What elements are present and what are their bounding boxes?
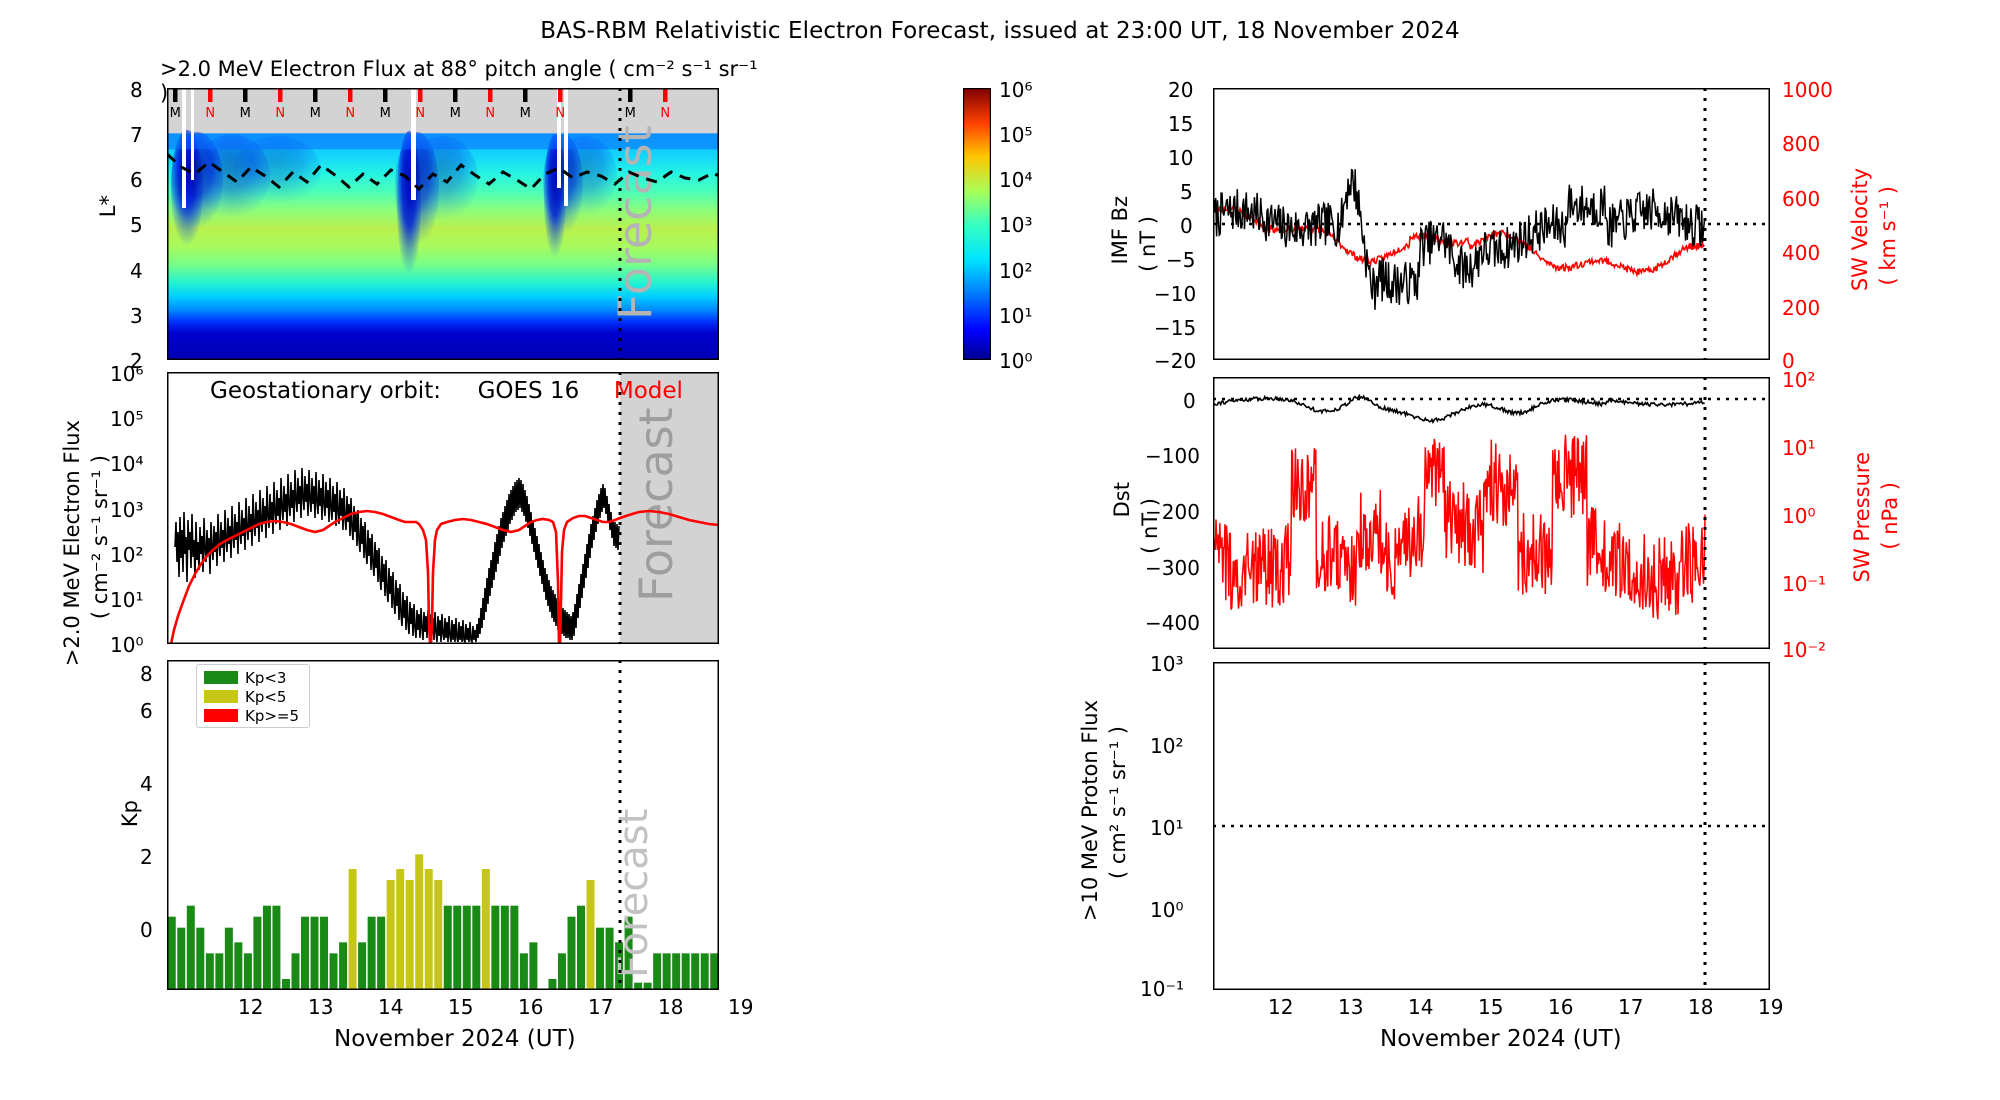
svg-text:N: N: [555, 106, 565, 121]
ytick-swv-200: 200: [1782, 296, 1820, 320]
kp-bar: [225, 928, 233, 990]
kp-bar: [244, 953, 252, 990]
kp-bar: [501, 906, 509, 990]
geo-flux-panel: Forecast: [167, 372, 719, 644]
xtick-right-19: 19: [1758, 995, 1783, 1019]
ytick-swp-1e2: 10²: [1782, 368, 1815, 392]
kp-bar: [272, 906, 280, 990]
kp-bar: [291, 953, 299, 990]
kp-legend-label-low: Kp<3: [245, 669, 286, 687]
xtick-right-14: 14: [1408, 995, 1433, 1019]
ytick-kp-4: 4: [140, 772, 153, 796]
xtick-left-16: 16: [518, 995, 543, 1019]
xtick-right-17: 17: [1618, 995, 1643, 1019]
kp-legend-label-high: Kp>=5: [245, 707, 299, 725]
kp-bar: [567, 917, 575, 990]
ytick-lstar-7: 7: [130, 123, 143, 147]
ytick-kp-0: 0: [140, 918, 153, 942]
ylabel-dst-line1: Dst: [1110, 482, 1134, 517]
flux-map-svg: Forecast M N M N M N M N M N: [167, 88, 719, 360]
dst-pressure-panel: [1213, 377, 1770, 649]
ytick-kp-6: 6: [140, 699, 153, 723]
ytick-dst-m400: −400: [1145, 611, 1200, 635]
kp-bar: [415, 854, 423, 990]
kp-bar: [510, 906, 518, 990]
kp-bar: [206, 953, 214, 990]
svg-text:M: M: [170, 106, 181, 121]
ytick-bz-m15: −15: [1154, 316, 1196, 340]
svg-text:M: M: [380, 106, 391, 121]
colorbar: [963, 88, 991, 360]
ytick-kp-2: 2: [140, 845, 153, 869]
cbar-tick-1e2: 10²: [999, 259, 1032, 283]
cbar-tick-1e3: 10³: [999, 213, 1032, 237]
forecast-watermark-map: Forecast: [608, 125, 662, 320]
kp-bar: [663, 953, 671, 990]
geo-flux-svg: Forecast: [167, 372, 719, 644]
kp-bar: [548, 979, 556, 990]
xtick-left-18: 18: [658, 995, 683, 1019]
geo-legend-prefix: Geostationary orbit:: [210, 378, 441, 404]
svg-text:N: N: [415, 106, 425, 121]
svg-text:M: M: [450, 106, 461, 121]
svg-text:N: N: [275, 106, 285, 121]
ytick-dst-0: 0: [1183, 389, 1196, 413]
cbar-tick-1e5: 10⁵: [999, 123, 1032, 147]
kp-bar: [339, 942, 347, 990]
kp-bar: [168, 917, 176, 990]
ylabel-proton-line1: >10 MeV Proton Flux: [1078, 700, 1102, 921]
xtick-right-16: 16: [1548, 995, 1573, 1019]
ylabel-bz-line1: IMF Bz: [1108, 196, 1132, 265]
ylabel-dst-line2: ( nT ): [1138, 498, 1162, 554]
xtick-left-19: 19: [728, 995, 753, 1019]
kp-legend: Kp<3 Kp<5 Kp>=5: [196, 664, 310, 728]
kp-bar: [406, 880, 414, 990]
ytick-bz-15: 15: [1168, 112, 1193, 136]
ytick-swp-1e1: 10¹: [1782, 436, 1815, 460]
xtick-left-12: 12: [238, 995, 263, 1019]
cbar-tick-1e6: 10⁶: [999, 78, 1032, 102]
ylabel-swv-line2: ( km s⁻¹ ): [1876, 186, 1900, 285]
kp-bar: [444, 906, 452, 990]
ylabel-kp: Kp: [118, 800, 142, 827]
svg-text:N: N: [660, 106, 670, 121]
ytick-proton-1e0: 10⁰: [1150, 898, 1183, 922]
kp-bar: [387, 880, 395, 990]
xtick-right-15: 15: [1478, 995, 1503, 1019]
kp-bar: [491, 906, 499, 990]
ytick-dst-m100: −100: [1145, 444, 1200, 468]
ytick-lstar-5: 5: [130, 213, 143, 237]
ytick-geo-1e0: 10⁰: [110, 633, 143, 657]
figure-canvas: BAS-RBM Relativistic Electron Forecast, …: [0, 0, 2000, 1100]
ylabel-bz-line2: ( nT ): [1136, 216, 1160, 272]
kp-bar: [587, 880, 595, 990]
kp-bar: [529, 942, 537, 990]
ytick-bz-m5: −5: [1166, 248, 1195, 272]
kp-legend-swatch-mid: [204, 690, 238, 703]
svg-text:N: N: [205, 106, 215, 121]
ylabel-geo-line2: ( cm⁻² s⁻¹ sr⁻¹ ): [88, 455, 112, 619]
svg-text:N: N: [345, 106, 355, 121]
ytick-geo-1e3: 10³: [110, 498, 143, 522]
kp-bar: [368, 917, 376, 990]
xtick-left-14: 14: [378, 995, 403, 1019]
kp-bar: [177, 928, 185, 990]
ytick-swv-600: 600: [1782, 187, 1820, 211]
kp-bar: [358, 942, 366, 990]
xlabel-right: November 2024 (UT): [1380, 1026, 1622, 1052]
kp-bar: [691, 953, 699, 990]
ytick-swp-1em2: 10⁻²: [1782, 638, 1826, 662]
kp-bar: [672, 953, 680, 990]
flux-map-panel: Forecast M N M N M N M N M N: [167, 88, 719, 360]
svg-text:M: M: [310, 106, 321, 121]
ytick-swv-400: 400: [1782, 241, 1820, 265]
xtick-left-13: 13: [308, 995, 333, 1019]
cbar-tick-1e1: 10¹: [999, 304, 1032, 328]
ytick-lstar-6: 6: [130, 168, 143, 192]
dst-pressure-svg: [1213, 377, 1770, 649]
kp-bar: [682, 953, 690, 990]
bz-velocity-panel: [1213, 88, 1770, 360]
kp-bar: [577, 906, 585, 990]
kp-bar: [330, 953, 338, 990]
ytick-geo-1e4: 10⁴: [110, 452, 143, 476]
ytick-swp-1e0: 10⁰: [1782, 504, 1815, 528]
kp-bar: [320, 917, 328, 990]
kp-bar: [234, 942, 242, 990]
kp-bar: [263, 906, 271, 990]
ytick-proton-1e1: 10¹: [1150, 816, 1183, 840]
ytick-geo-1e5: 10⁵: [110, 407, 143, 431]
svg-text:N: N: [485, 106, 495, 121]
geo-legend-goes: GOES 16: [478, 378, 580, 404]
ytick-lstar-8: 8: [130, 78, 143, 102]
kp-bar: [311, 917, 319, 990]
kp-bar: [196, 928, 204, 990]
kp-bar: [301, 917, 309, 990]
bz-velocity-svg: [1213, 88, 1770, 360]
kp-bar: [215, 953, 223, 990]
kp-bar: [558, 953, 566, 990]
ytick-dst-m300: −300: [1145, 556, 1200, 580]
kp-bar: [701, 953, 709, 990]
kp-bar: [710, 953, 718, 990]
ytick-proton-1e3: 10³: [1150, 652, 1183, 676]
ytick-geo-1e6: 10⁶: [110, 362, 143, 386]
ytick-proton-1em1: 10⁻¹: [1140, 977, 1184, 1001]
svg-text:M: M: [240, 106, 251, 121]
ytick-bz-5: 5: [1180, 180, 1193, 204]
ytick-lstar-4: 4: [130, 259, 143, 283]
ytick-swv-1000: 1000: [1782, 78, 1833, 102]
proton-flux-panel: [1213, 662, 1770, 990]
ytick-bz-20: 20: [1168, 78, 1193, 102]
figure-title: BAS-RBM Relativistic Electron Forecast, …: [0, 18, 2000, 44]
ylabel-proton-line2: ( cm² s⁻¹ sr⁻¹ ): [1106, 726, 1130, 879]
proton-flux-svg: [1213, 662, 1770, 990]
geo-legend: Geostationary orbit: GOES 16 Model: [210, 378, 683, 404]
ytick-lstar-3: 3: [130, 304, 143, 328]
ytick-geo-1e2: 10²: [110, 543, 143, 567]
kp-legend-swatch-high: [204, 709, 238, 722]
ylabel-swp-line1: SW Pressure: [1850, 452, 1874, 582]
ytick-kp-8: 8: [140, 662, 153, 686]
xlabel-left: November 2024 (UT): [334, 1026, 576, 1052]
kp-bar: [463, 906, 471, 990]
ytick-bz-m10: −10: [1154, 282, 1196, 306]
ytick-swp-1em1: 10⁻¹: [1782, 572, 1826, 596]
ylabel-swv-line1: SW Velocity: [1848, 168, 1872, 291]
ytick-bz-10: 10: [1168, 146, 1193, 170]
kp-bar: [349, 869, 357, 990]
kp-bar: [520, 953, 528, 990]
svg-text:M: M: [625, 106, 636, 121]
kp-bar: [377, 917, 385, 990]
xtick-left-15: 15: [448, 995, 473, 1019]
ytick-proton-1e2: 10²: [1150, 734, 1183, 758]
geo-legend-model: Model: [614, 378, 683, 404]
xtick-right-12: 12: [1268, 995, 1293, 1019]
cbar-tick-1e4: 10⁴: [999, 168, 1032, 192]
cbar-tick-1e0: 10⁰: [999, 349, 1032, 373]
kp-legend-swatch-low: [204, 671, 238, 684]
kp-bar: [596, 928, 604, 990]
xtick-right-13: 13: [1338, 995, 1363, 1019]
kp-bar: [482, 869, 490, 990]
ylabel-swp-line2: ( nPa ): [1878, 482, 1902, 550]
ytick-swv-800: 800: [1782, 132, 1820, 156]
kp-bar: [472, 906, 480, 990]
kp-bar: [425, 869, 433, 990]
kp-bar: [453, 906, 461, 990]
xtick-right-18: 18: [1688, 995, 1713, 1019]
kp-bar: [396, 869, 404, 990]
kp-legend-label-mid: Kp<5: [245, 688, 286, 706]
xtick-left-17: 17: [588, 995, 613, 1019]
ytick-bz-m20: −20: [1154, 349, 1196, 373]
kp-bar: [253, 917, 261, 990]
forecast-watermark-kp: Forecast: [611, 809, 657, 978]
svg-text:M: M: [520, 106, 531, 121]
kp-bar: [282, 979, 290, 990]
ylabel-lstar: L*: [96, 195, 120, 217]
ytick-bz-0: 0: [1180, 214, 1193, 238]
ytick-geo-1e1: 10¹: [110, 588, 143, 612]
ylabel-geo-line1: >2.0 MeV Electron Flux: [60, 420, 84, 666]
kp-bar: [434, 880, 442, 990]
kp-bar: [187, 906, 195, 990]
forecast-watermark-geo: Forecast: [629, 407, 683, 602]
